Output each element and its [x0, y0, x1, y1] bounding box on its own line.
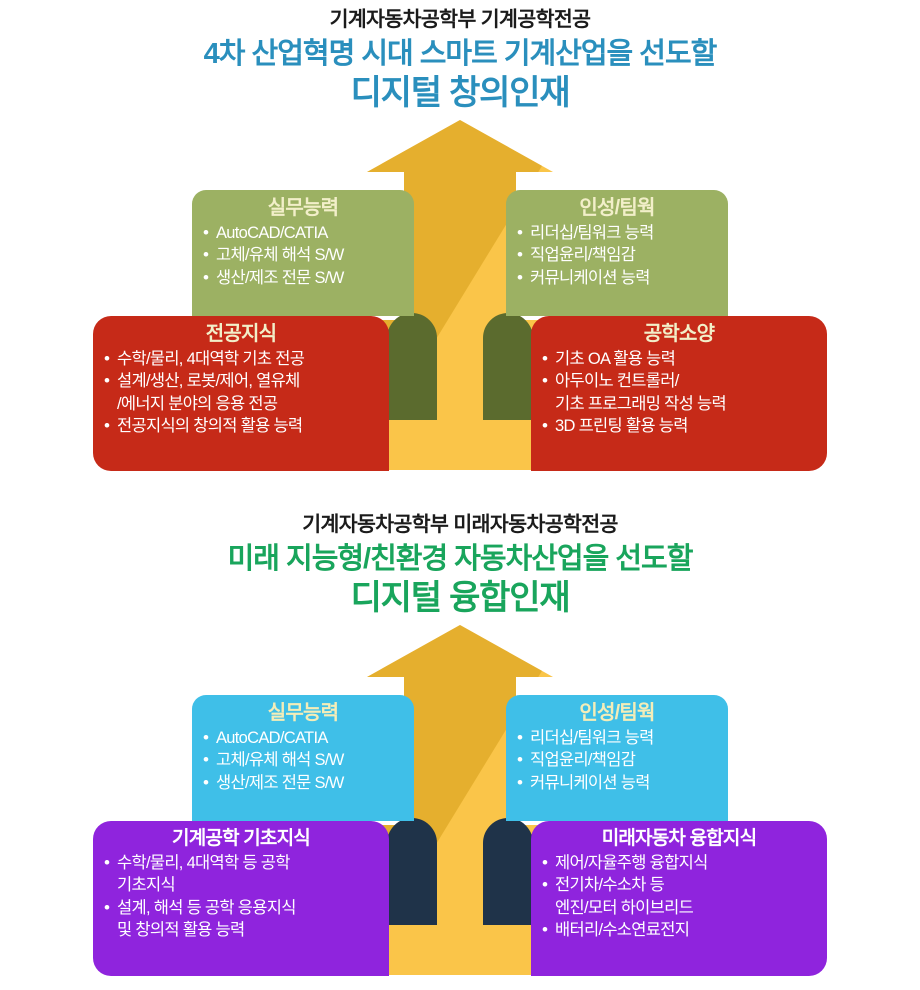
list-item: 아두이노 컨트롤러/: [541, 371, 817, 392]
panel-teamwork-right-mechanical: 인성/팀웍 리더십/팀워크 능력 직업윤리/책임감 커뮤니케이션 능력: [506, 190, 728, 316]
list-item: 전기차/수소차 등: [541, 875, 817, 896]
panel-item-list: AutoCAD/CATIA 고체/유체 해석 S/W 생산/제조 전문 S/W: [202, 728, 404, 794]
department-label-automotive: 기계자동차공학부 미래자동차공학전공: [0, 513, 920, 537]
list-item: AutoCAD/CATIA: [202, 223, 404, 244]
panel-item-list: 수학/물리, 4대역학 등 공학 기초지식 설계, 해석 등 공학 응용지식 및…: [103, 853, 379, 942]
list-item: 고체/유체 해석 S/W: [202, 750, 404, 771]
panel-skill-left-automotive: 실무능력 AutoCAD/CATIA 고체/유체 해석 S/W 생산/제조 전문…: [192, 695, 414, 821]
list-item: 리더십/팀워크 능력: [516, 728, 718, 749]
diagram-future-automotive-engineering: 기계자동차공학부 미래자동차공학전공 미래 지능형/친환경 자동차산업을 선도할…: [0, 505, 920, 990]
panel-item-list: 기초 OA 활용 능력 아두이노 컨트롤러/ 기초 프로그래밍 작성 능력 3D…: [541, 349, 817, 438]
panel-teamwork-right-automotive: 인성/팀웍 리더십/팀워크 능력 직업윤리/책임감 커뮤니케이션 능력: [506, 695, 728, 821]
list-item: 생산/제조 전문 S/W: [202, 268, 404, 289]
panel-item-list: 제어/자율주행 융합지식 전기차/수소차 등 엔진/모터 하이브리드 배터리/수…: [541, 853, 817, 942]
list-item: 설계/생산, 로봇/제어, 열유체: [103, 371, 379, 392]
list-item: 수학/물리, 4대역학 등 공학: [103, 853, 379, 874]
panel-heading: 인성/팀웍: [516, 702, 718, 725]
panel-heading: 인성/팀웍: [516, 197, 718, 220]
list-item: 기초 OA 활용 능력: [541, 349, 817, 370]
list-item: 커뮤니케이션 능력: [516, 773, 718, 794]
panel-heading: 공학소양: [541, 323, 817, 346]
panel-heading: 전공지식: [103, 323, 379, 346]
list-item-continuation: 및 창의적 활용 능력: [103, 920, 379, 941]
panel-heading: 실무능력: [202, 702, 404, 725]
headline-mechanical: 4차 산업혁명 시대 스마트 기계산업을 선도할: [0, 36, 920, 74]
list-item: 고체/유체 해석 S/W: [202, 245, 404, 266]
panel-item-list: 리더십/팀워크 능력 직업윤리/책임감 커뮤니케이션 능력: [516, 728, 718, 794]
panel-future-vehicle-convergence-right-automotive: 미래자동차 융합지식 제어/자율주행 융합지식 전기차/수소차 등 엔진/모터 …: [531, 821, 827, 976]
list-item: AutoCAD/CATIA: [202, 728, 404, 749]
department-label-mechanical: 기계자동차공학부 기계공학전공: [0, 8, 920, 32]
panel-item-list: 수학/물리, 4대역학 기초 전공 설계/생산, 로봇/제어, 열유체 /에너지…: [103, 349, 379, 438]
list-item: 제어/자율주행 융합지식: [541, 853, 817, 874]
diagram-title-block-mechanical: 기계자동차공학부 기계공학전공 4차 산업혁명 시대 스마트 기계산업을 선도할…: [0, 8, 920, 114]
panel-heading: 기계공학 기초지식: [103, 828, 379, 850]
panel-item-list: 리더십/팀워크 능력 직업윤리/책임감 커뮤니케이션 능력: [516, 223, 718, 289]
panel-heading: 미래자동차 융합지식: [541, 828, 817, 850]
list-item: 생산/제조 전문 S/W: [202, 773, 404, 794]
list-item-continuation: 기초지식: [103, 875, 379, 896]
subheadline-automotive: 디지털 융합인재: [0, 578, 920, 619]
list-item: 3D 프린팅 활용 능력: [541, 416, 817, 437]
list-item-continuation: 엔진/모터 하이브리드: [541, 898, 817, 919]
list-item: 직업윤리/책임감: [516, 245, 718, 266]
list-item: 배터리/수소연료전지: [541, 920, 817, 941]
diagram-title-block-automotive: 기계자동차공학부 미래자동차공학전공 미래 지능형/친환경 자동차산업을 선도할…: [0, 513, 920, 619]
panel-skill-left-mechanical: 실무능력 AutoCAD/CATIA 고체/유체 해석 S/W 생산/제조 전문…: [192, 190, 414, 316]
panel-mechanical-fundamentals-left-automotive: 기계공학 기초지식 수학/물리, 4대역학 등 공학 기초지식 설계, 해석 등…: [93, 821, 389, 976]
list-item-continuation: /에너지 분야의 응용 전공: [103, 394, 379, 415]
panel-heading: 실무능력: [202, 197, 404, 220]
headline-automotive: 미래 지능형/친환경 자동차산업을 선도할: [0, 541, 920, 579]
list-item: 수학/물리, 4대역학 기초 전공: [103, 349, 379, 370]
list-item-continuation: 기초 프로그래밍 작성 능력: [541, 394, 817, 415]
subheadline-mechanical: 디지털 창의인재: [0, 73, 920, 114]
panel-major-knowledge-left-mechanical: 전공지식 수학/물리, 4대역학 기초 전공 설계/생산, 로봇/제어, 열유체…: [93, 316, 389, 471]
list-item: 리더십/팀워크 능력: [516, 223, 718, 244]
panel-item-list: AutoCAD/CATIA 고체/유체 해석 S/W 생산/제조 전문 S/W: [202, 223, 404, 289]
panel-engineering-literacy-right-mechanical: 공학소양 기초 OA 활용 능력 아두이노 컨트롤러/ 기초 프로그래밍 작성 …: [531, 316, 827, 471]
diagram-mechanical-engineering: 기계자동차공학부 기계공학전공 4차 산업혁명 시대 스마트 기계산업을 선도할…: [0, 0, 920, 495]
list-item: 전공지식의 창의적 활용 능력: [103, 416, 379, 437]
list-item: 커뮤니케이션 능력: [516, 268, 718, 289]
list-item: 직업윤리/책임감: [516, 750, 718, 771]
list-item: 설계, 해석 등 공학 응용지식: [103, 898, 379, 919]
